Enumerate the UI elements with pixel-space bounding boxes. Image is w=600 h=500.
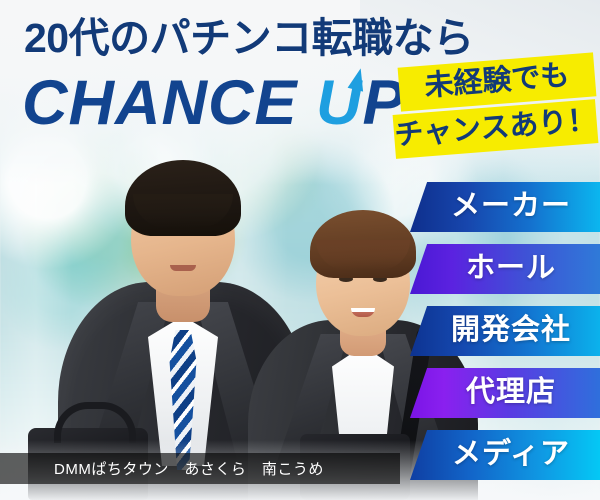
category-button-agency[interactable]: 代理店 [410, 368, 600, 418]
page-title: 20代のパチンコ転職なら [24, 18, 474, 59]
female-hair-front [310, 210, 416, 278]
male-hair [125, 160, 241, 236]
category-label-agency: 代理店 [454, 378, 556, 409]
credit-bar: DMMぱちタウン あさくら 南こうめ [0, 453, 400, 484]
category-button-hall[interactable]: ホール [410, 244, 600, 294]
logo-text-chance: CHANCE [22, 68, 316, 138]
male-mouth [170, 265, 196, 271]
logo-letter-u-accent: U [316, 72, 363, 135]
credit-text: DMMぱちタウン あさくら 南こうめ [0, 458, 324, 479]
chance-up-logo: CHANCE UP [22, 72, 406, 135]
category-label-media: メディア [440, 440, 570, 471]
category-label-maker: メーカー [439, 192, 571, 223]
category-button-maker[interactable]: メーカー [410, 182, 600, 232]
category-label-hall: ホール [454, 254, 556, 285]
category-button-media[interactable]: メディア [410, 430, 600, 480]
recruitment-banner: 20代のパチンコ転職なら CHANCE UP 未経験でも チャンスあり！ メーカ… [0, 0, 600, 500]
category-button-development-company[interactable]: 開発会社 [410, 306, 600, 356]
category-label-development-company: 開発会社 [439, 316, 571, 347]
female-mouth [351, 308, 375, 317]
